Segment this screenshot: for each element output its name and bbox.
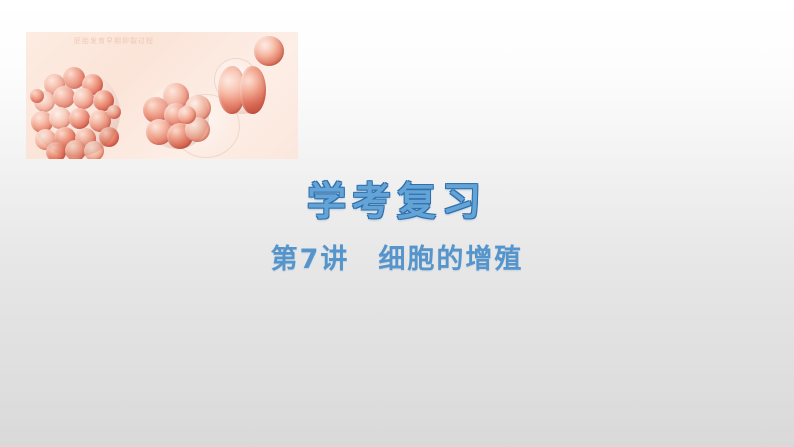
cell-stage-eight-cell	[145, 85, 209, 149]
page-subtitle: 第7讲 细胞的增殖	[0, 237, 794, 276]
figure-faint-caption: 胚胎发育早期卵裂过程	[74, 36, 154, 46]
embryo-cleavage-stages-image: 胚胎发育早期卵裂过程	[26, 32, 298, 159]
cell-stage-two-cell	[218, 66, 266, 114]
cell-stage-morula	[32, 69, 120, 157]
presentation-slide: 胚胎发育早期卵裂过程	[0, 0, 794, 447]
cell-stage-zygote	[254, 36, 284, 66]
page-title: 学考复习	[0, 171, 794, 227]
